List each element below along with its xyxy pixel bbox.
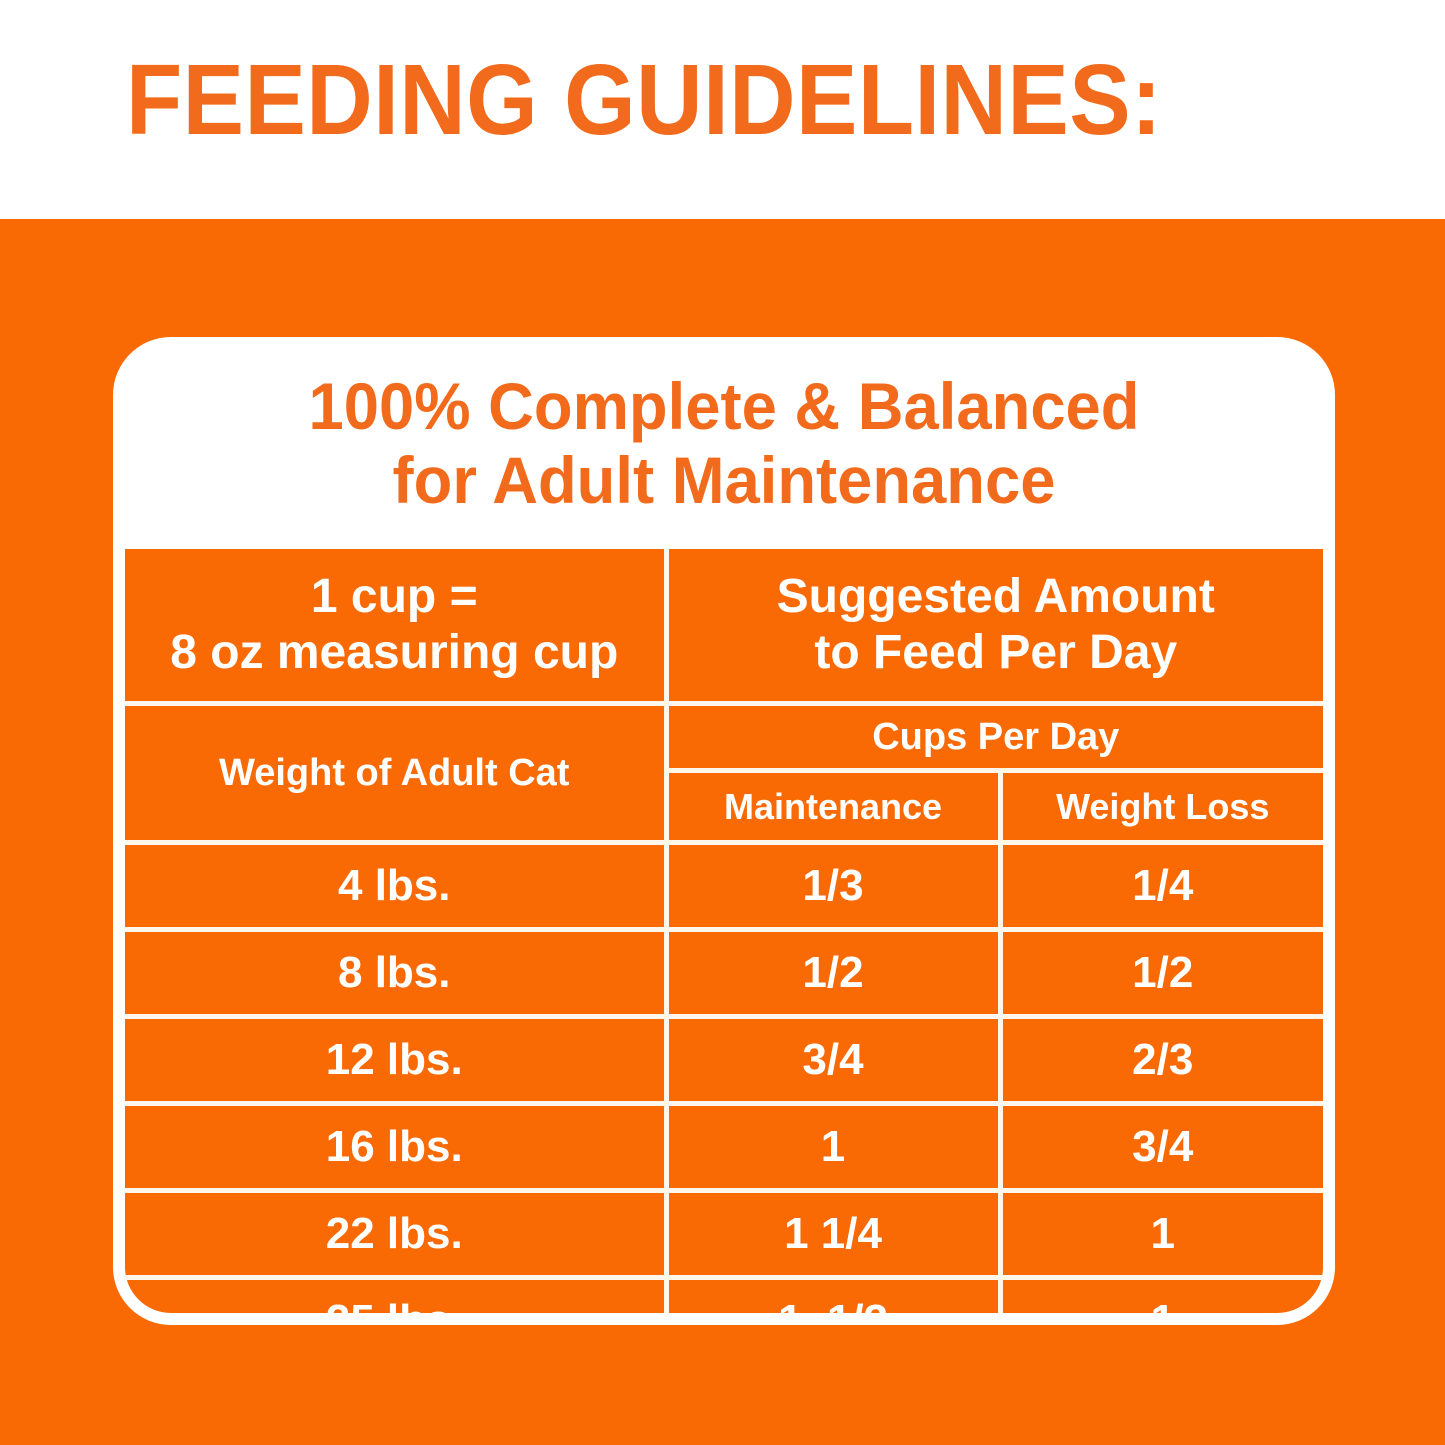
table-row-definitions: 1 cup = 8 oz measuring cup Suggested Amo… xyxy=(125,549,1323,704)
row-weight-loss: 3/4 xyxy=(1000,1104,1323,1191)
title-banner: FEEDING GUIDELINES: xyxy=(0,0,1445,219)
cup-definition-cell: 1 cup = 8 oz measuring cup xyxy=(125,549,666,704)
row-weight-loss: 1 xyxy=(1000,1278,1323,1314)
row-weight: 12 lbs. xyxy=(125,1017,666,1104)
suggested-amount-cell: Suggested Amount to Feed Per Day xyxy=(666,549,1323,704)
row-weight-loss: 1 xyxy=(1000,1191,1323,1278)
row-weight-loss: 1/4 xyxy=(1000,843,1323,930)
row-weight: 25 lbs. xyxy=(125,1278,666,1314)
cup-definition-line-2: 8 oz measuring cup xyxy=(125,625,664,681)
row-weight: 16 lbs. xyxy=(125,1104,666,1191)
table-row: 8 lbs. 1/2 1/2 xyxy=(125,930,1323,1017)
row-weight: 8 lbs. xyxy=(125,930,666,1017)
weight-of-adult-cat-header: Weight of Adult Cat xyxy=(125,704,666,843)
table-row-header-top: Weight of Adult Cat Cups Per Day xyxy=(125,704,1323,771)
table-row: 12 lbs. 3/4 2/3 xyxy=(125,1017,1323,1104)
suggested-amount-line-2: to Feed Per Day xyxy=(669,625,1324,681)
row-maintenance: 1 1/4 xyxy=(666,1191,1000,1278)
card-heading: 100% Complete & Balanced for Adult Maint… xyxy=(137,369,1310,517)
table-row: 16 lbs. 1 3/4 xyxy=(125,1104,1323,1191)
card-heading-line-1: 100% Complete & Balanced xyxy=(137,369,1310,443)
feeding-table: 1 cup = 8 oz measuring cup Suggested Amo… xyxy=(125,549,1323,1313)
feeding-guidelines-page: FEEDING GUIDELINES: 100% Complete & Bala… xyxy=(0,0,1445,1445)
table-row: 25 lbs. 1 1/3 1 xyxy=(125,1278,1323,1314)
row-weight-loss: 1/2 xyxy=(1000,930,1323,1017)
row-weight: 22 lbs. xyxy=(125,1191,666,1278)
cup-definition-line-1: 1 cup = xyxy=(125,569,664,625)
row-maintenance: 1 xyxy=(666,1104,1000,1191)
weight-loss-header: Weight Loss xyxy=(1000,771,1323,843)
row-maintenance: 1 1/3 xyxy=(666,1278,1000,1314)
card-heading-line-2: for Adult Maintenance xyxy=(137,443,1310,517)
row-maintenance: 1/3 xyxy=(666,843,1000,930)
row-maintenance: 1/2 xyxy=(666,930,1000,1017)
feeding-table-container: 1 cup = 8 oz measuring cup Suggested Amo… xyxy=(125,549,1323,1313)
page-title: FEEDING GUIDELINES: xyxy=(126,48,1162,152)
feeding-card: 100% Complete & Balanced for Adult Maint… xyxy=(113,337,1335,1325)
maintenance-header: Maintenance xyxy=(666,771,1000,843)
table-row: 4 lbs. 1/3 1/4 xyxy=(125,843,1323,930)
row-maintenance: 3/4 xyxy=(666,1017,1000,1104)
cups-per-day-header: Cups Per Day xyxy=(666,704,1323,771)
suggested-amount-line-1: Suggested Amount xyxy=(669,569,1324,625)
table-row: 22 lbs. 1 1/4 1 xyxy=(125,1191,1323,1278)
row-weight-loss: 2/3 xyxy=(1000,1017,1323,1104)
row-weight: 4 lbs. xyxy=(125,843,666,930)
